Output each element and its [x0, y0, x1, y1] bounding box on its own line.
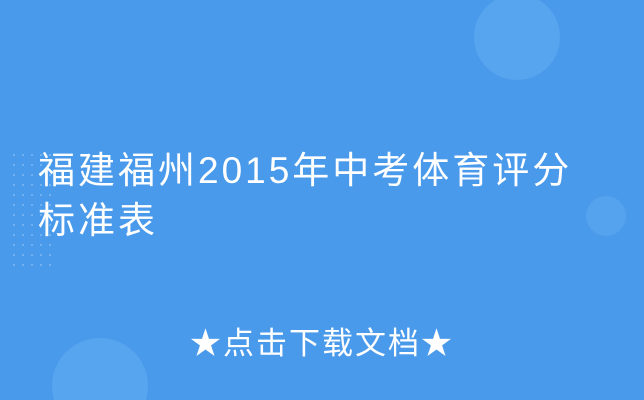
page-title: 福建福州2015年中考体育评分标准表	[38, 146, 608, 246]
document-preview-banner: 福建福州2015年中考体育评分标准表 ★点击下载文档★	[0, 0, 644, 400]
banner-content: 福建福州2015年中考体育评分标准表 ★点击下载文档★	[0, 0, 644, 400]
download-document-link[interactable]: ★点击下载文档★	[0, 318, 644, 363]
